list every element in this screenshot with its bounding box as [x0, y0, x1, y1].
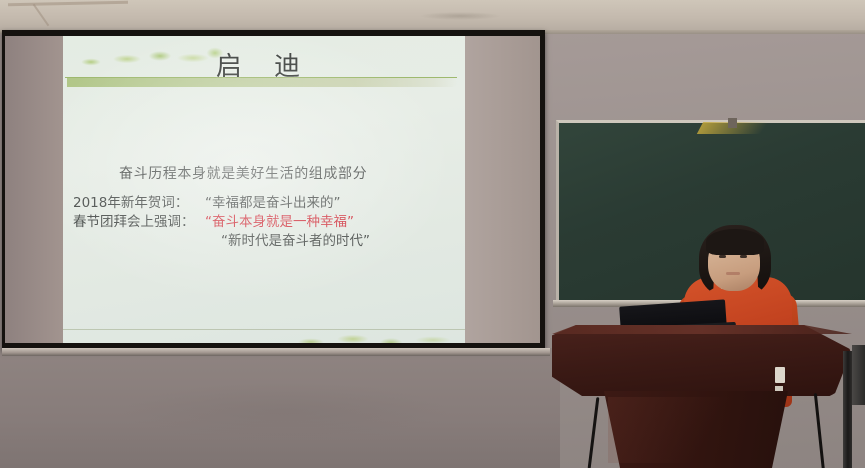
slide-body-quote: “幸福都是奋斗出来的”: [205, 194, 341, 213]
slide-body-row: “新时代是奋斗者的时代”: [73, 232, 465, 251]
presenter-area: [556, 225, 865, 468]
podium-top-edge: [552, 325, 852, 334]
slide-body-label: 2018年新年贺词：: [73, 194, 205, 213]
blackboard-light-reflection: [697, 122, 778, 134]
podium-label-sticker: [775, 367, 785, 383]
presenter-mouth: [726, 272, 740, 275]
projected-slide[interactable]: 启 迪 奋斗历程本身就是美好生活的组成部分 2018年新年贺词：“幸福都是奋斗出…: [63, 36, 465, 343]
podium-label-sticker-secondary: [775, 386, 783, 391]
slide-body-quote: “新时代是奋斗者的时代”: [221, 232, 370, 251]
projection-screen-surface[interactable]: 启 迪 奋斗历程本身就是美好生活的组成部分 2018年新年贺词：“幸福都是奋斗出…: [5, 36, 540, 343]
blackboard-corner-bracket: [728, 118, 737, 128]
presenter-hair-fringe: [706, 229, 764, 255]
screen-unlit-right-band: [465, 36, 540, 343]
slide-body-row: 春节团拜会上强调：“奋斗本身就是一种幸福”: [73, 213, 465, 232]
podium-sheen: [608, 397, 758, 463]
slide-footer-decoration: [63, 304, 465, 343]
slide-body: 2018年新年贺词：“幸福都是奋斗出来的” 春节团拜会上强调：“奋斗本身就是一种…: [73, 194, 465, 251]
presenter-left-eye: [719, 255, 726, 258]
slide-body-row: 2018年新年贺词：“幸福都是奋斗出来的”: [73, 194, 465, 213]
equipment-stand-pole: [843, 351, 852, 468]
projection-screen-bottom-lip: [2, 348, 550, 356]
slide-title: 启 迪: [63, 46, 465, 83]
screen-unlit-left-band: [5, 36, 63, 343]
leaf-decoration-bottom-icon: [287, 330, 465, 343]
equipment-stand-box: [852, 345, 865, 405]
slide-body-label: 春节团拜会上强调：: [73, 213, 205, 232]
podium-top: [552, 325, 852, 399]
slide-lead-text: 奋斗历程本身就是美好生活的组成部分: [119, 163, 367, 183]
ceiling-stain: [420, 12, 500, 20]
wall-smudge: [120, 382, 450, 442]
classroom-photo: 启 迪 奋斗历程本身就是美好生活的组成部分 2018年新年贺词：“幸福都是奋斗出…: [0, 0, 865, 468]
power-cable-left: [588, 397, 600, 468]
slide-body-quote-highlighted: “奋斗本身就是一种幸福”: [205, 213, 354, 232]
presenter-right-eye: [740, 255, 747, 258]
power-cable-right: [814, 393, 825, 468]
